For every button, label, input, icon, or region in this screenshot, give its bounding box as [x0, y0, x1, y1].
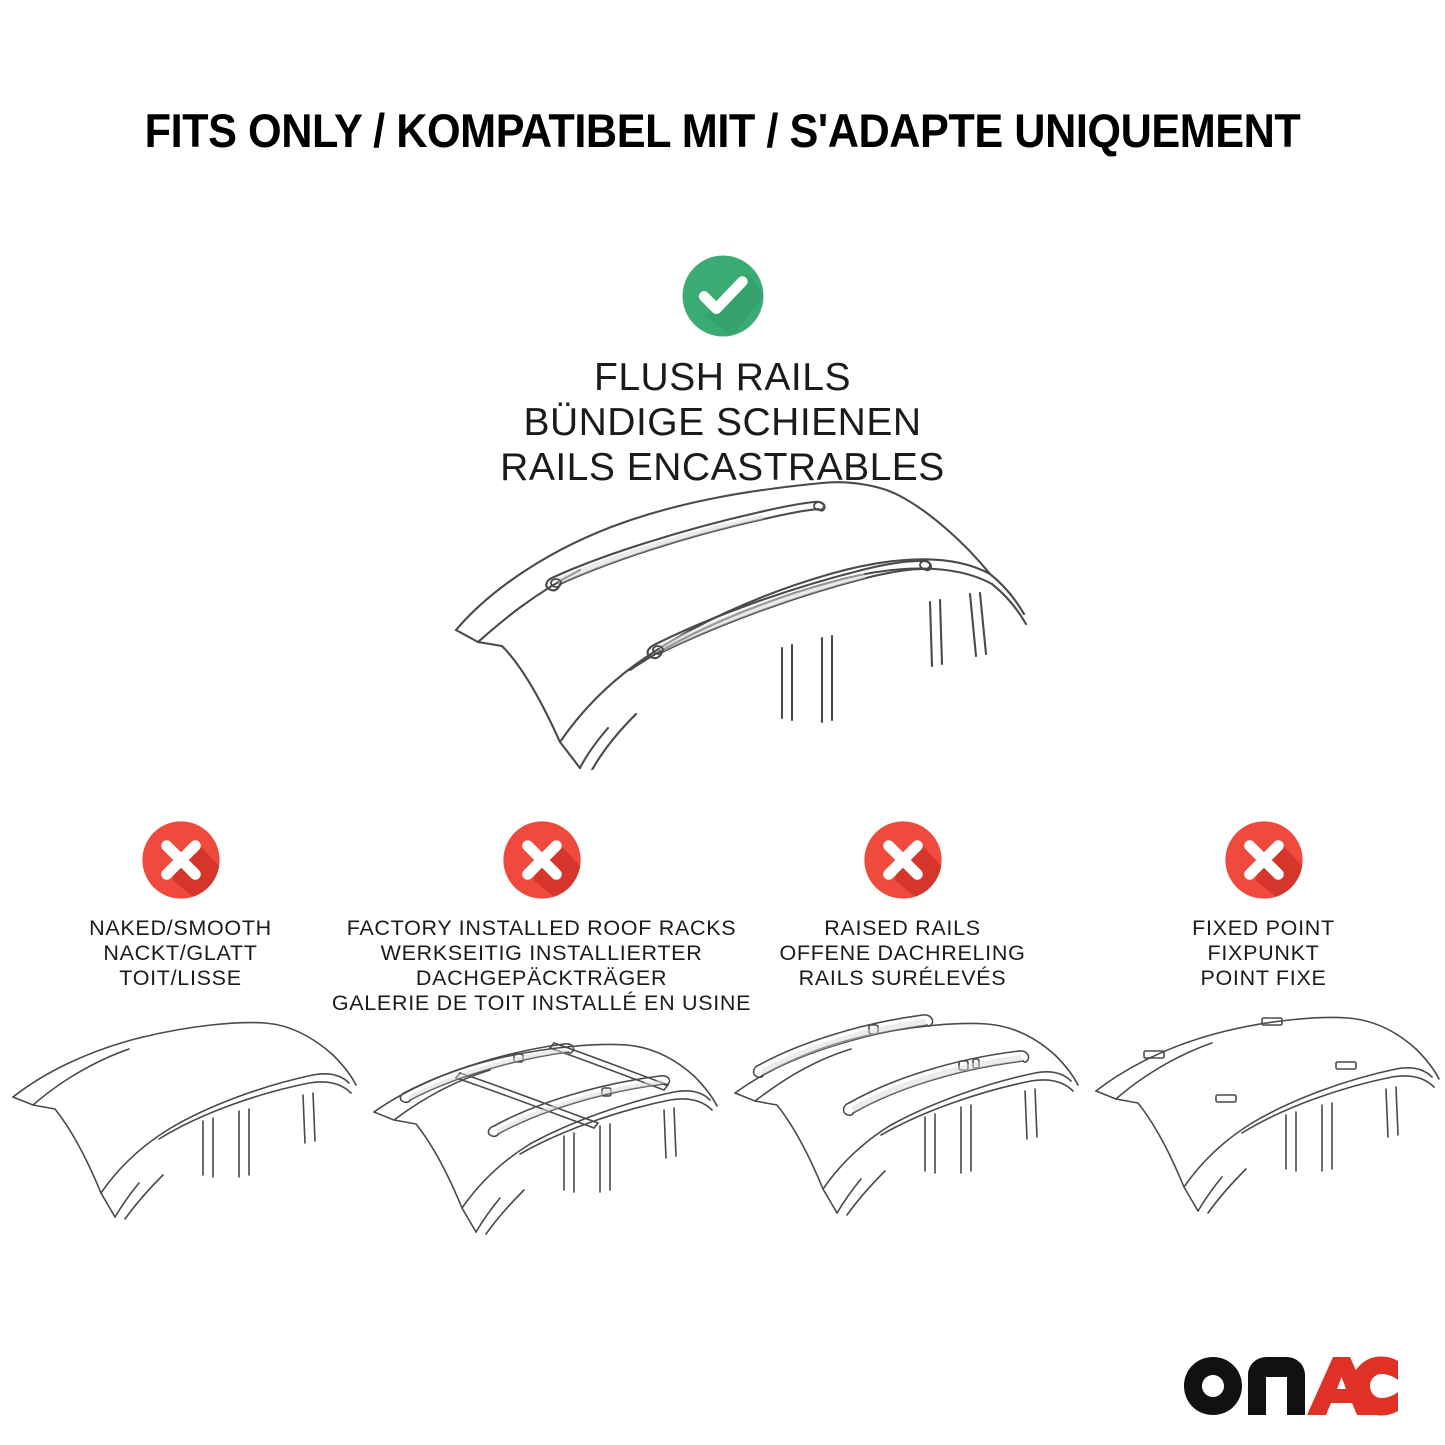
car-roof-flush-rails-illustration	[430, 470, 1030, 770]
incompatible-item-raised-rails: RAISED RAILS OFFENE DACHRELING RAILS SUR…	[722, 818, 1083, 1220]
incompatible-label-en: FIXED POINT	[1192, 916, 1335, 941]
incompatible-label-fr: GALERIE DE TOIT INSTALLÉ EN USINE	[332, 991, 751, 1016]
green-check-circle-icon	[679, 252, 767, 340]
car-roof-raised-rails-illustration	[725, 1005, 1080, 1220]
incompatible-label-en: NAKED/SMOOTH	[89, 916, 272, 941]
incompatible-label-fr: TOIT/LISSE	[89, 966, 272, 991]
red-x-circle-icon	[139, 818, 223, 902]
incompatible-labels: FIXED POINT FIXPUNKT POINT FIXE	[1192, 916, 1335, 991]
incompatible-item-factory-racks: FACTORY INSTALLED ROOF RACKS WERKSEITIG …	[361, 818, 722, 1245]
incompatible-labels: FACTORY INSTALLED ROOF RACKS WERKSEITIG …	[332, 916, 751, 1016]
incompatible-label-en: RAISED RAILS	[779, 916, 1025, 941]
car-roof-fixed-point-illustration	[1086, 1005, 1441, 1220]
compatible-section: FLUSH RAILS BÜNDIGE SCHIENEN RAILS ENCAS…	[0, 252, 1445, 490]
incompatible-section: NAKED/SMOOTH NACKT/GLATT TOIT/LISSE	[0, 818, 1445, 1245]
incompatible-item-naked-smooth: NAKED/SMOOTH NACKT/GLATT TOIT/LISSE	[0, 818, 361, 1220]
compatible-label-de: BÜNDIGE SCHIENEN	[0, 400, 1445, 445]
car-roof-naked-illustration	[3, 1005, 358, 1220]
car-roof-factory-racks-illustration	[364, 1030, 719, 1245]
incompatible-label-de: NACKT/GLATT	[89, 941, 272, 966]
incompatible-label-de: FIXPUNKT	[1192, 941, 1335, 966]
incompatible-labels: NAKED/SMOOTH NACKT/GLATT TOIT/LISSE	[89, 916, 272, 991]
fitment-compatibility-infographic: FITS ONLY / KOMPATIBEL MIT / S'ADAPTE UN…	[0, 0, 1445, 1445]
incompatible-item-fixed-point: FIXED POINT FIXPUNKT POINT FIXE	[1083, 818, 1444, 1220]
incompatible-label-fr: RAILS SURÉLEVÉS	[779, 966, 1025, 991]
incompatible-label-de-2: DACHGEPÄCKTRÄGER	[332, 966, 751, 991]
red-x-circle-icon	[861, 818, 945, 902]
incompatible-label-de: OFFENE DACHRELING	[779, 941, 1025, 966]
incompatible-label-en: FACTORY INSTALLED ROOF RACKS	[332, 916, 751, 941]
red-x-circle-icon	[500, 818, 584, 902]
incompatible-label-fr: POINT FIXE	[1192, 966, 1335, 991]
incompatible-label-de-1: WERKSEITIG INSTALLIERTER	[332, 941, 751, 966]
omac-logo	[1182, 1355, 1400, 1417]
red-x-circle-icon	[1222, 818, 1306, 902]
incompatible-labels: RAISED RAILS OFFENE DACHRELING RAILS SUR…	[779, 916, 1025, 991]
page-title: FITS ONLY / KOMPATIBEL MIT / S'ADAPTE UN…	[58, 103, 1387, 158]
compatible-label-en: FLUSH RAILS	[0, 355, 1445, 400]
